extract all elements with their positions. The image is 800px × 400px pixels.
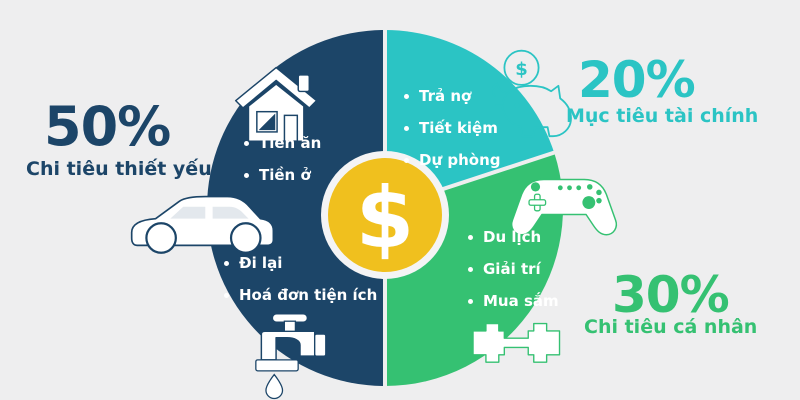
percent-label-personal: 30% — [612, 270, 729, 320]
list-item: Đi lại — [224, 256, 377, 271]
bullet-list-financial-goals: Trả nợ Tiết kiệm Dự phòng — [404, 89, 501, 168]
dumbbell-icon — [473, 324, 559, 363]
list-item: Mua sắm — [468, 294, 559, 309]
list-item: Tiết kiệm — [404, 121, 501, 136]
bullet-list-essential-top: Tiền ăn Tiền ở — [244, 136, 321, 183]
infographic-canvas: $ $ 50% Chi tiêu thi — [0, 0, 800, 400]
percent-label-essential: 50% — [44, 100, 170, 154]
bullet-list-essential-bottom: Đi lại Hoá đơn tiện ích — [224, 256, 377, 303]
list-item: Du lịch — [468, 230, 559, 245]
list-item: Giải trí — [468, 262, 559, 277]
percent-label-financial-goals: 20% — [578, 55, 695, 105]
svg-text:$: $ — [515, 59, 528, 80]
category-label-essential: Chi tiêu thiết yếu — [26, 160, 212, 179]
list-item: Tiền ăn — [244, 136, 321, 151]
list-item: Dự phòng — [404, 153, 501, 168]
category-label-personal: Chi tiêu cá nhân — [584, 318, 757, 337]
list-item: Trả nợ — [404, 89, 501, 104]
category-label-financial-goals: Mục tiêu tài chính — [566, 107, 758, 126]
bullet-list-personal: Du lịch Giải trí Mua sắm — [468, 230, 559, 309]
list-item: Hoá đơn tiện ích — [224, 288, 377, 303]
game-controller-icon — [512, 180, 617, 235]
dollar-symbol: $ — [356, 169, 414, 267]
list-item: Tiền ở — [244, 168, 321, 183]
